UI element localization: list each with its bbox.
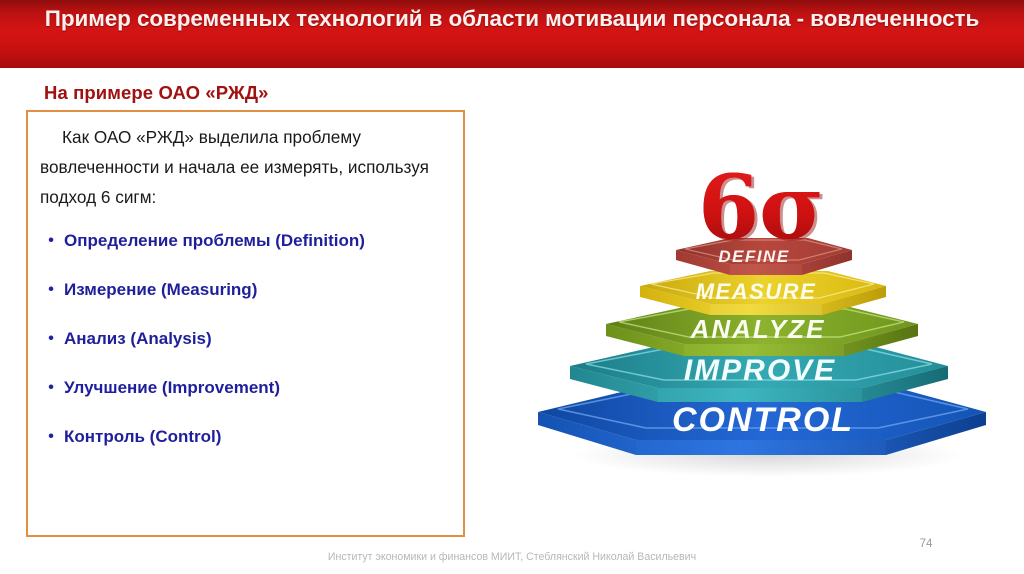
list-item: • Контроль (Control) — [38, 425, 458, 449]
bullet-dot-icon: • — [38, 425, 64, 449]
page-title: Пример современных технологий в области … — [0, 4, 1024, 33]
slide-subtitle: На примере ОАО «РЖД» — [44, 82, 269, 104]
bullet-list: • Определение проблемы (Definition) • Из… — [38, 229, 458, 449]
list-item: • Определение проблемы (Definition) — [38, 229, 458, 253]
tier-label-control: CONTROL — [672, 401, 854, 439]
intro-paragraph: Как ОАО «РЖД» выделила проблему вовлечен… — [40, 122, 454, 212]
bullet-label-improvement: Улучшение (Improvement) — [64, 376, 458, 400]
pyramid-diagram: CONTROL IMPROVE ANALYZE MEASURE — [518, 150, 1004, 490]
slide-header-band: Пример современных технологий в области … — [0, 0, 1024, 68]
bullet-dot-icon: • — [38, 327, 64, 351]
six-sigma-logo: 6σ 6σ 6σ — [698, 155, 827, 261]
tier-label-analyze: ANALYZE — [690, 314, 826, 344]
footer-credit: Институт экономики и финансов МИИТ, Стеб… — [0, 551, 1024, 563]
page-number: 74 — [906, 538, 946, 550]
tier-label-improve: IMPROVE — [684, 354, 836, 387]
bullet-label-analysis: Анализ (Analysis) — [64, 327, 458, 351]
list-item: • Анализ (Analysis) — [38, 327, 458, 351]
six-sigma-logo-face: 6σ — [698, 155, 824, 259]
bullet-label-control: Контроль (Control) — [64, 425, 458, 449]
list-item: • Измерение (Measuring) — [38, 278, 458, 302]
bullet-label-definition: Определение проблемы (Definition) — [64, 229, 458, 253]
bullet-label-measuring: Измерение (Measuring) — [64, 278, 458, 302]
tier-label-measure: MEASURE — [696, 279, 817, 304]
bullet-dot-icon: • — [38, 278, 64, 302]
bullet-dot-icon: • — [38, 376, 64, 400]
content-panel: Как ОАО «РЖД» выделила проблему вовлечен… — [26, 110, 465, 537]
bullet-dot-icon: • — [38, 229, 64, 253]
list-item: • Улучшение (Improvement) — [38, 376, 458, 400]
six-sigma-pyramid-image: CONTROL IMPROVE ANALYZE MEASURE — [518, 150, 1004, 490]
